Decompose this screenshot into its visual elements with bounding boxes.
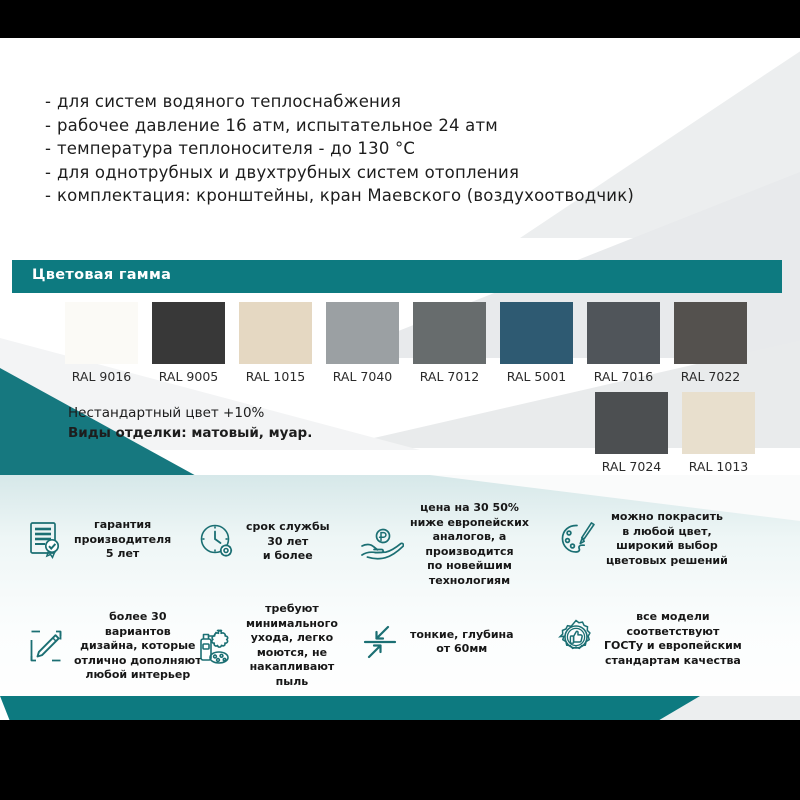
band-teal-parallelogram xyxy=(0,696,700,720)
list-item-label: для систем водяного теплоснабжения xyxy=(57,90,401,114)
swatch-label: RAL 1015 xyxy=(246,369,305,384)
list-item: - для однотрубных и двухтрубных систем о… xyxy=(45,161,645,185)
swatch-label: RAL 9005 xyxy=(159,369,218,384)
feature-easy-care: требуют минимального ухода, легко моются… xyxy=(196,602,338,689)
feature-quality-standards: все модели соответствуют ГОСТу и европей… xyxy=(554,610,742,668)
bullet-marker: - xyxy=(45,90,57,114)
swatch-label: RAL 7040 xyxy=(333,369,392,384)
color-swatch[interactable]: RAL 7012 xyxy=(406,302,493,384)
feature-design-variants: более 30 вариантов дизайна, которые отли… xyxy=(24,610,202,683)
color-swatch-row-secondary: RAL 7024 RAL 1013 xyxy=(588,392,762,474)
color-swatch[interactable]: RAL 9005 xyxy=(145,302,232,384)
spray-sponge-icon xyxy=(196,624,240,668)
feature-service-life: срок службы 30 лет и более xyxy=(196,520,330,564)
swatch-chip xyxy=(500,302,573,364)
feature-quality-standards-text: все модели соответствуют ГОСТу и европей… xyxy=(604,610,742,668)
bottom-decorative-band xyxy=(0,696,800,720)
color-notes: Нестандартный цвет +10% Виды отделки: ма… xyxy=(68,403,312,443)
color-swatch[interactable]: RAL 7024 xyxy=(588,392,675,474)
bullet-marker: - xyxy=(45,184,57,208)
swatch-label: RAL 5001 xyxy=(507,369,566,384)
swatch-label: RAL 7016 xyxy=(594,369,653,384)
color-gamma-title: Цветовая гамма xyxy=(32,267,171,283)
feature-paintable: можно покрасить в любой цвет, широкий вы… xyxy=(556,510,728,568)
pencil-design-icon xyxy=(24,624,68,668)
feature-service-life-text: срок службы 30 лет и более xyxy=(246,520,330,564)
list-item-label: для однотрубных и двухтрубных систем ото… xyxy=(57,161,519,185)
swatch-chip xyxy=(152,302,225,364)
clock-gear-icon xyxy=(196,520,240,564)
slide-canvas: - для систем водяного теплоснабжения - р… xyxy=(0,38,800,720)
swatch-chip xyxy=(326,302,399,364)
specs-bullet-list: - для систем водяного теплоснабжения - р… xyxy=(45,90,645,208)
bullet-marker: - xyxy=(45,114,57,138)
list-item: - для систем водяного теплоснабжения xyxy=(45,90,645,114)
list-item-label: комплектация: кронштейны, кран Маевского… xyxy=(57,184,634,208)
color-swatch[interactable]: RAL 7022 xyxy=(667,302,754,384)
feature-warranty: гарантия производителя 5 лет xyxy=(24,518,171,562)
list-item-label: рабочее давление 16 атм, испытательное 2… xyxy=(57,114,498,138)
thickness-arrows-icon xyxy=(360,620,404,664)
feature-price-text: цена на 30 50% ниже европейских аналогов… xyxy=(410,501,529,588)
list-item: - комплектация: кронштейны, кран Маевско… xyxy=(45,184,645,208)
color-swatch[interactable]: RAL 1015 xyxy=(232,302,319,384)
swatch-label: RAL 7012 xyxy=(420,369,479,384)
ruble-hand-icon xyxy=(360,523,404,567)
color-swatch[interactable]: RAL 5001 xyxy=(493,302,580,384)
swatch-label: RAL 7022 xyxy=(681,369,740,384)
certificate-icon xyxy=(24,518,68,562)
swatch-chip xyxy=(239,302,312,364)
feature-price: цена на 30 50% ниже европейских аналогов… xyxy=(360,501,529,588)
swatch-chip xyxy=(413,302,486,364)
feature-warranty-text: гарантия производителя 5 лет xyxy=(74,518,171,562)
color-swatch[interactable]: RAL 1013 xyxy=(675,392,762,474)
bullet-marker: - xyxy=(45,161,57,185)
feature-thin-depth-text: тонкие, глубина от 60мм xyxy=(410,628,514,657)
color-swatch-row-primary: RAL 9016 RAL 9005 RAL 1015 RAL 7040 RAL … xyxy=(58,302,754,384)
swatch-label: RAL 7024 xyxy=(602,459,661,474)
palette-brush-icon xyxy=(556,517,600,561)
color-swatch[interactable]: RAL 9016 xyxy=(58,302,145,384)
swatch-chip xyxy=(587,302,660,364)
bullet-marker: - xyxy=(45,137,57,161)
feature-design-variants-text: более 30 вариантов дизайна, которые отли… xyxy=(74,610,202,683)
note-finish-types: Виды отделки: матовый, муар. xyxy=(68,423,312,443)
thumbs-up-seal-icon xyxy=(554,617,598,661)
list-item: - рабочее давление 16 атм, испытательное… xyxy=(45,114,645,138)
list-item: - температура теплоносителя - до 130 °C xyxy=(45,137,645,161)
swatch-chip xyxy=(65,302,138,364)
note-custom-color: Нестандартный цвет +10% xyxy=(68,403,312,423)
list-item-label: температура теплоносителя - до 130 °C xyxy=(57,137,415,161)
swatch-label: RAL 1013 xyxy=(689,459,748,474)
color-swatch[interactable]: RAL 7040 xyxy=(319,302,406,384)
slide-page: - для систем водяного теплоснабжения - р… xyxy=(0,0,800,800)
swatch-chip xyxy=(674,302,747,364)
feature-thin-depth: тонкие, глубина от 60мм xyxy=(360,620,514,664)
swatch-chip xyxy=(595,392,668,454)
feature-paintable-text: можно покрасить в любой цвет, широкий вы… xyxy=(606,510,728,568)
feature-easy-care-text: требуют минимального ухода, легко моются… xyxy=(246,602,338,689)
swatch-chip xyxy=(682,392,755,454)
swatch-label: RAL 9016 xyxy=(72,369,131,384)
color-swatch[interactable]: RAL 7016 xyxy=(580,302,667,384)
